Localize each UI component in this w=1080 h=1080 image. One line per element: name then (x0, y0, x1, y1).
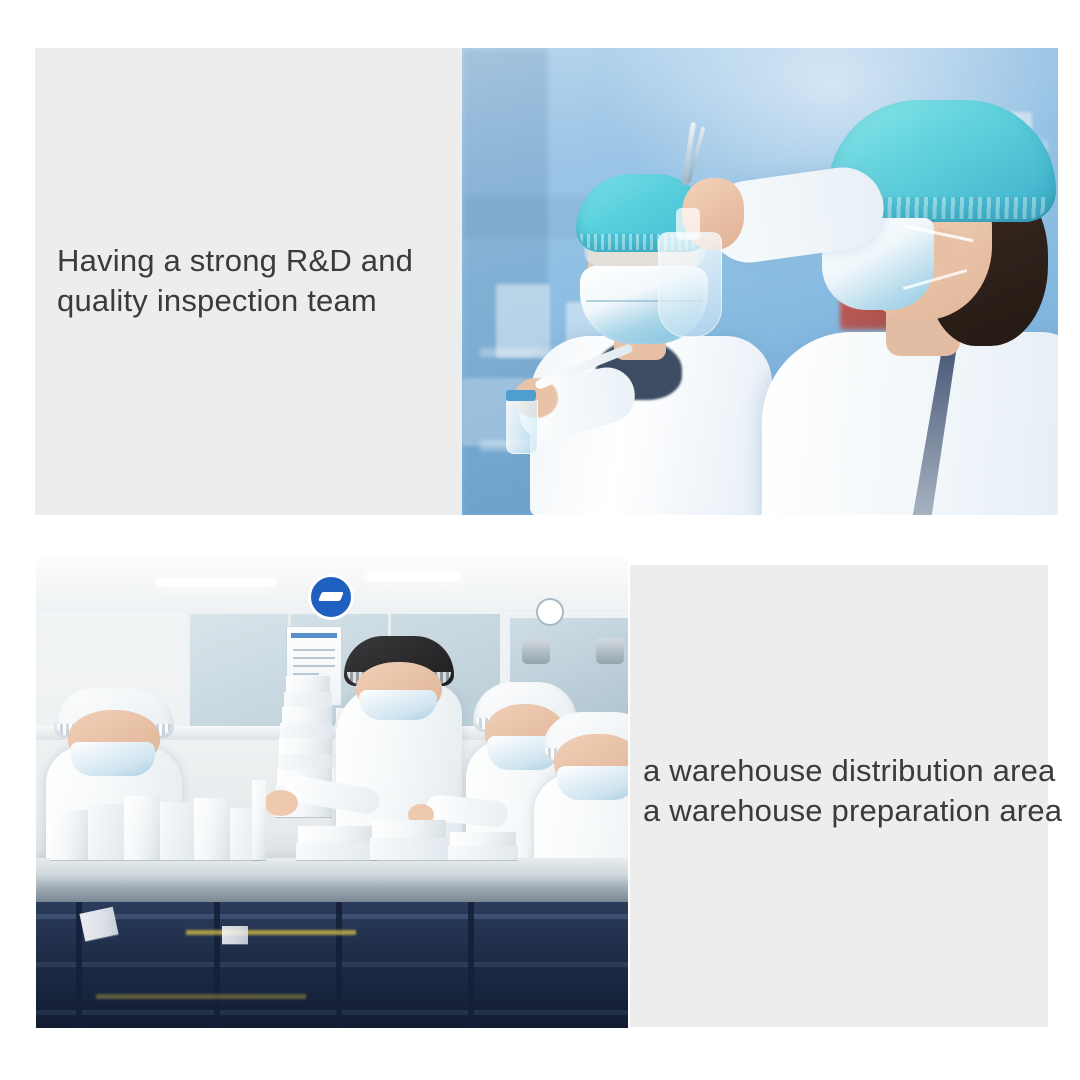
box-flat-3 (372, 820, 446, 838)
box-tall-bottle (252, 780, 266, 860)
box-upright-5 (50, 810, 88, 860)
lab-flask (658, 232, 722, 338)
steel-pot-b (596, 638, 624, 664)
box-upright-1 (124, 796, 160, 860)
box-stack-bg-3 (282, 707, 332, 723)
box-stack-bg-4 (280, 723, 332, 738)
warehouse-photo (36, 558, 628, 1028)
box-upright-3 (194, 798, 230, 860)
paper-slip-2 (222, 926, 248, 944)
table-rail-h3 (36, 1010, 628, 1015)
table-leg-2 (214, 902, 220, 1028)
box-stack-bg-6 (278, 754, 332, 769)
floor-marking-yellow-2 (96, 994, 306, 999)
worker4-mask (557, 766, 628, 800)
table-rail-h2 (36, 962, 628, 967)
rnd-lab-photo (462, 48, 1058, 515)
box-flat-1 (298, 826, 376, 843)
page-root: Having a strong R&D and quality inspecti… (0, 0, 1080, 1080)
box-stack-bg-1 (286, 676, 330, 692)
ceiling-light-b (366, 572, 462, 581)
rnd-caption-line-1: Having a strong R&D and (57, 241, 413, 281)
poster-text-line-3 (293, 665, 335, 667)
box-flat-2 (296, 843, 378, 860)
steel-worktable (36, 858, 628, 902)
rnd-caption-line-2: quality inspection team (57, 281, 413, 321)
lab-vial (506, 398, 538, 454)
box-stack-bg-5 (279, 738, 332, 754)
lab-technician-profile (778, 82, 1058, 515)
steel-pot-a (522, 638, 550, 664)
ceiling-light-a (156, 578, 276, 587)
worker2-mask (359, 690, 437, 720)
box-stack-bg-2 (284, 692, 332, 707)
warehouse-caption-line-1: a warehouse distribution area (643, 751, 1062, 791)
table-rail-h1 (36, 914, 628, 919)
blue-sign-icon (308, 574, 354, 620)
warehouse-caption-line-2: a warehouse preparation area (643, 791, 1062, 831)
poster-text-line-4 (293, 673, 319, 675)
lab-coat-profile (762, 332, 1058, 515)
box-flat-6 (448, 846, 518, 860)
box-flat-4 (370, 838, 448, 860)
box-flat-5 (450, 832, 516, 846)
box-upright-2 (160, 802, 194, 860)
lab-vial-cap (506, 390, 536, 401)
wall-clock-icon (536, 598, 564, 626)
poster-header-bar (291, 633, 337, 638)
table-leg-4 (468, 902, 474, 1028)
poster-text-line-2 (293, 657, 335, 659)
worker2-hand (264, 790, 298, 816)
warehouse-caption: a warehouse distribution area a warehous… (643, 751, 1062, 831)
table-leg-3 (336, 902, 342, 1028)
rnd-caption: Having a strong R&D and quality inspecti… (57, 241, 413, 321)
box-upright-6 (88, 804, 124, 860)
floor-marking-yellow-1 (186, 930, 356, 935)
poster-text-line-1 (293, 649, 335, 651)
worker1-mask (70, 742, 154, 776)
